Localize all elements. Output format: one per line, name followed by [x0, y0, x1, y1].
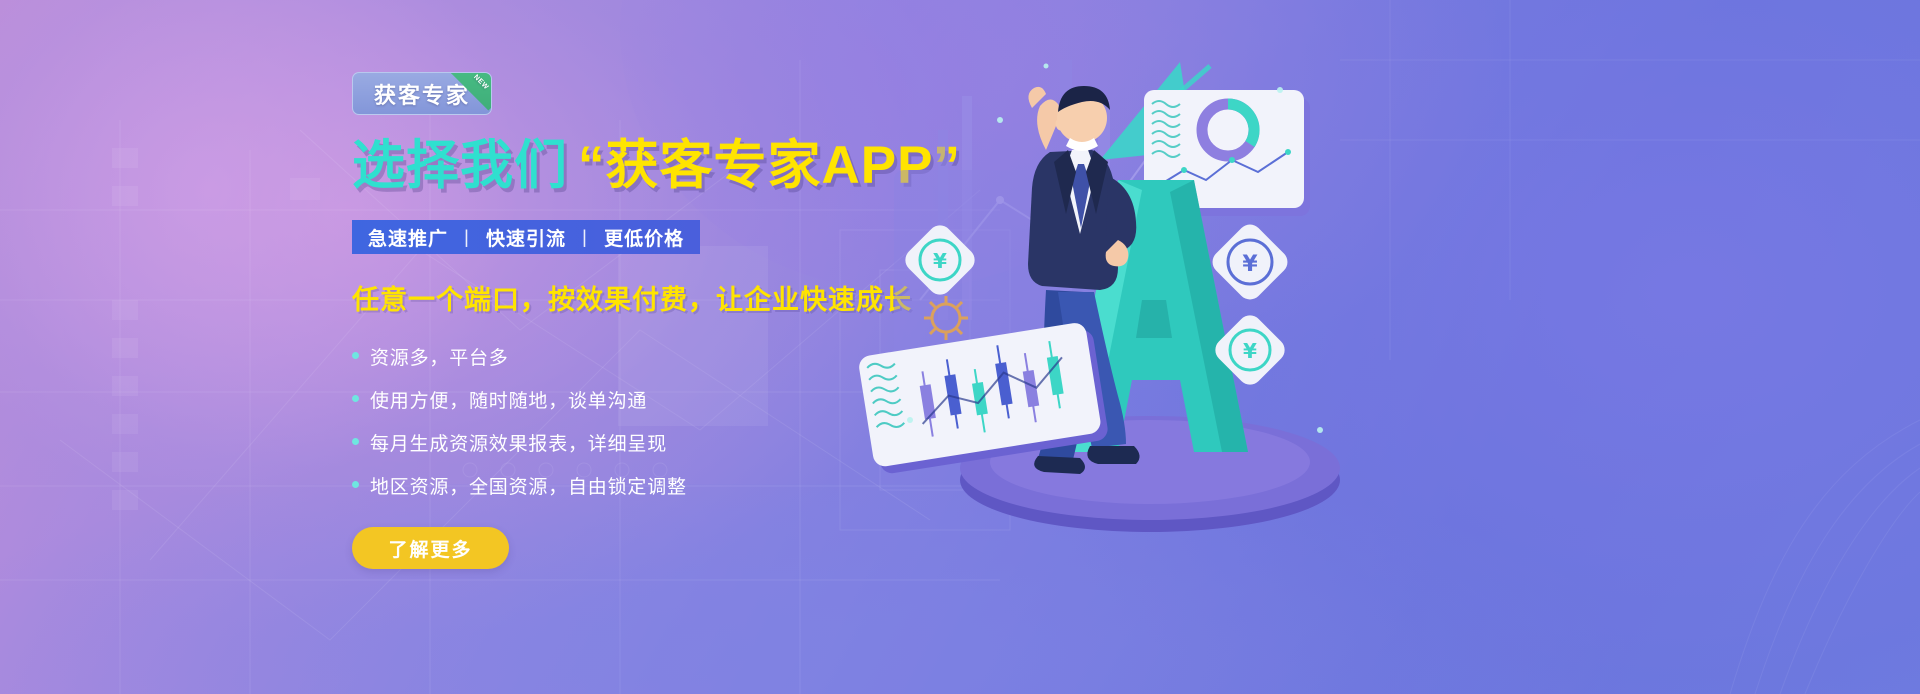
coin-icon-3-symbol: ¥: [1243, 339, 1257, 363]
product-badge-label: 获客专家: [374, 78, 470, 110]
list-item: 资源多，平台多: [352, 343, 912, 370]
feature-pill-separator-1: 丨: [448, 224, 486, 251]
feature-list: 资源多，平台多 使用方便，随时随地，谈单沟通 每月生成资源效果报表，详细呈现 地…: [352, 343, 912, 499]
list-item: 使用方便，随时随地，谈单沟通: [352, 386, 912, 413]
coin-icon-1-symbol: ¥: [933, 249, 947, 273]
feature-pill: 急速推广 丨 快速引流 丨 更低价格: [352, 220, 700, 254]
product-badge[interactable]: 获客专家 NEW: [352, 72, 492, 115]
headline-part-primary: 选择我们: [352, 136, 568, 195]
banner-copy: 获客专家 NEW 选择我们“获客专家APP” 急速推广 丨 快速引流 丨 更低价…: [352, 72, 912, 569]
coin-icon-2: ¥: [1208, 220, 1293, 305]
headline: 选择我们“获客专家APP”: [352, 137, 912, 194]
hero-illustration: A: [850, 0, 1470, 694]
feature-pill-separator-2: 丨: [566, 224, 604, 251]
hero-banner: 获客专家 NEW 选择我们“获客专家APP” 急速推广 丨 快速引流 丨 更低价…: [0, 0, 1920, 694]
product-badge-wrap: 获客专家 NEW: [352, 72, 492, 115]
coin-icon-2-symbol: ¥: [1242, 252, 1258, 277]
feature-pill-item-3: 更低价格: [604, 224, 684, 251]
list-item: 地区资源，全国资源，自由锁定调整: [352, 472, 912, 499]
list-item: 每月生成资源效果报表，详细呈现: [352, 429, 912, 456]
new-ribbon-label: NEW: [472, 74, 490, 92]
tagline: 任意一个端口，按效果付费，让企业快速成长: [352, 278, 912, 317]
feature-pill-item-1: 急速推广: [368, 224, 448, 251]
feature-pill-item-2: 快速引流: [486, 224, 566, 251]
learn-more-button[interactable]: 了解更多: [352, 527, 509, 569]
